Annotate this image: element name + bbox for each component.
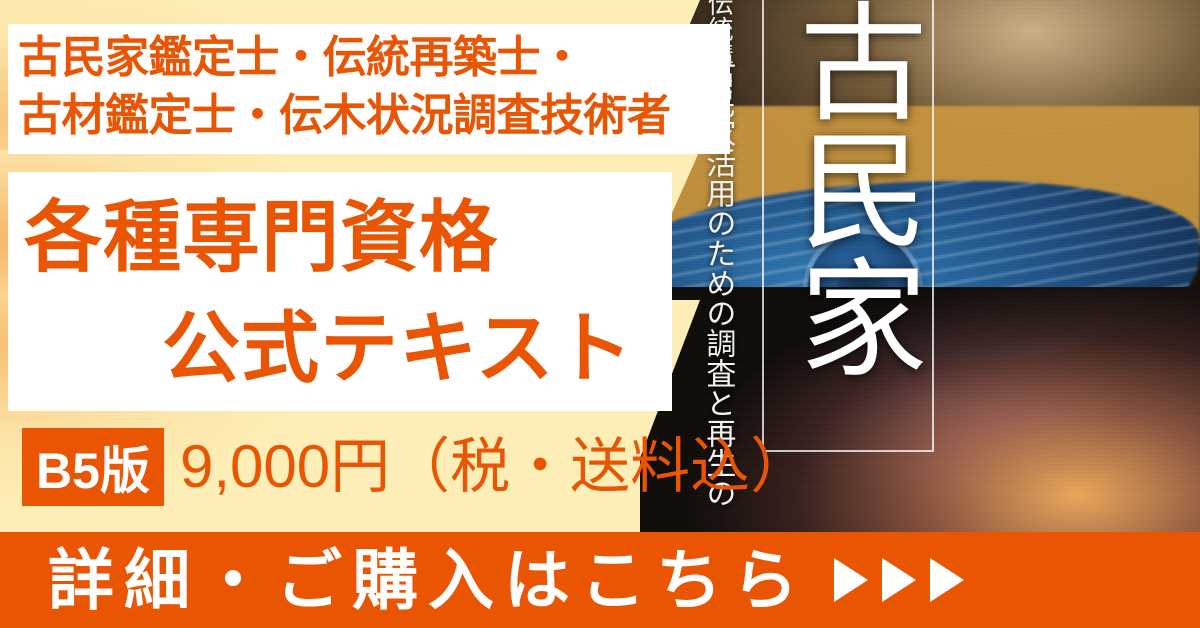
headline: 各種専門資格 公式テキスト: [10, 182, 666, 404]
subheadline-line-1: 古民家鑑定士・伝統再築士・: [18, 30, 730, 88]
triangle-right-icon: [930, 558, 964, 602]
cta-arrow-group: [834, 558, 964, 602]
cover-title: 古民家: [770, 0, 922, 446]
headline-line-2: 公式テキスト: [10, 293, 666, 404]
subheadline-line-2: 古材鑑定士・伝木状況調査技術者: [18, 88, 730, 146]
headline-line-1: 各種専門資格: [10, 182, 666, 293]
triangle-right-icon: [882, 558, 916, 602]
promo-banner: 古民家 伝統構法 古民家活用のための調査と再生の 古民家鑑定士・伝統再築士・ 古…: [0, 0, 1200, 628]
subheadline: 古民家鑑定士・伝統再築士・ 古材鑑定士・伝木状況調査技術者: [18, 30, 730, 146]
format-badge: B5版: [22, 428, 164, 506]
cta-label: 詳細・ご購入はこちら: [48, 532, 808, 628]
price-text: 9,000円（税・送料込）: [180, 430, 810, 504]
cta-bar[interactable]: 詳細・ご購入はこちら: [0, 532, 1200, 628]
triangle-right-icon: [834, 558, 868, 602]
